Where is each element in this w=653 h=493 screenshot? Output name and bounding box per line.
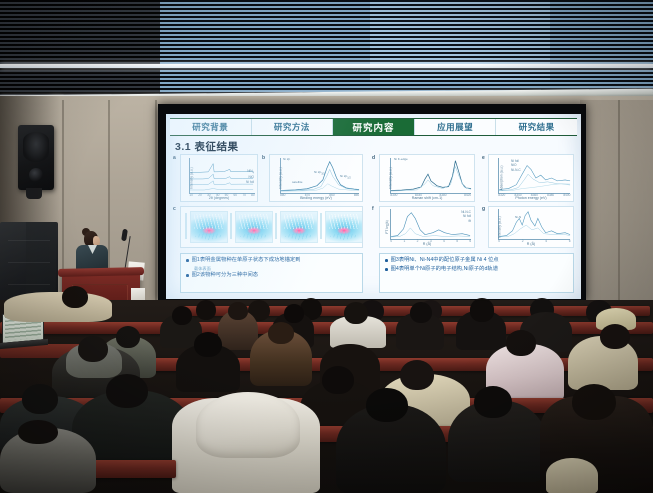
figure-panel-c (180, 206, 363, 248)
slide-tab-outlook[interactable]: 应用展望 (415, 119, 497, 135)
bullet-dot (385, 268, 388, 271)
panel-label-g: g (482, 206, 485, 212)
panel-b-title: Ni 2p (283, 157, 290, 161)
head (196, 300, 216, 320)
bullet-dot (186, 274, 189, 277)
surface-plot (280, 211, 318, 243)
panel-d-ylabel: Intensity (a.u.) (389, 167, 393, 188)
panel-label-c: c (173, 206, 176, 212)
head (470, 300, 494, 322)
panel-g-xlabel: R (Å) (489, 242, 573, 246)
slide-tab-methods[interactable]: 研究方法 (252, 119, 334, 135)
slide-nav-tabs: 研究背景 研究方法 研究内容 应用展望 研究结果 (170, 118, 577, 136)
wall-seam (618, 100, 620, 325)
bullet-text: 图3表明Ni、Ni-N4中的配位原子金属 Ni 4 位点 (391, 257, 499, 265)
head (268, 322, 294, 344)
bullet-text: 图4表明单个Ni原子的电子结构,Ni原子的d轨道 (391, 266, 498, 274)
head (366, 388, 408, 422)
slide-tab-content[interactable]: 研究内容 (333, 119, 415, 135)
panel-b-xlabel: Binding energy (eV) (270, 196, 362, 200)
bullet-box-right: 图3表明Ni、Ni-N4中的配位原子金属 Ni 4 位点 图4表明单个Ni原子的… (379, 253, 574, 293)
figure-panel-b: Ni 2p Ni 2p3/2 satellite Ni 2p1/2 880870… (269, 154, 363, 202)
bullet-box-left: 图1表明金属物种在单原子状态下成功地锚定到 载体表面 图2该物种可分为三种中间态 (180, 253, 363, 293)
person-fur-coat (4, 292, 112, 322)
figure-panel-g: Ni-N 02 46 R (Å) Intensity (a.u.) (488, 206, 574, 248)
person-cream-shoulder (546, 458, 598, 493)
panel-label-f: f (372, 206, 374, 212)
head (284, 304, 304, 323)
rack-seam (8, 262, 50, 263)
head (410, 302, 432, 323)
figure-panel-d: Ni K-edge 83008340 83808420 Raman shift … (379, 154, 475, 202)
head (506, 330, 536, 356)
surface-plot (235, 211, 273, 243)
panel-f-legend: Ni-N-C Ni foil fit (461, 210, 471, 223)
panel-label-e: e (482, 155, 485, 161)
panel-e-xlabel: Photon energy (eV) (489, 196, 573, 200)
panel-b-ylabel: Intensity (a.u.) (279, 167, 283, 188)
bullet-dot (186, 259, 189, 262)
figure-panel-f: Ni-N-C Ni foil fit 01 23 45 6 R (Å) FT k… (379, 206, 475, 248)
panel-g-ylabel: Intensity (a.u.) (498, 216, 502, 237)
surface-plot (190, 211, 228, 243)
figure-panel-e: Ni foil NiO Ni-N-C 83208340 83608380 840… (488, 154, 574, 202)
head (22, 384, 58, 414)
rack-seam (8, 240, 50, 241)
head (116, 326, 140, 348)
panel-d-title: Ni K-edge (394, 157, 408, 161)
slide-tab-background[interactable]: 研究背景 (170, 119, 252, 135)
colorbar (275, 213, 277, 239)
head (400, 360, 434, 390)
projection-screen[interactable]: 研究背景 研究方法 研究内容 应用展望 研究结果 3.1 表征结果 a 1020 (166, 114, 581, 299)
head (322, 366, 354, 394)
bullet-item: 图2该物种可分为三种中间态 (186, 272, 358, 280)
head (572, 384, 616, 420)
head (600, 324, 630, 349)
panel-d-xlabel: Raman shift (cm-1) (380, 196, 474, 200)
panel-f-xlabel: R (Å) (380, 242, 474, 246)
panel-a-legend: NiN4NiONi foil (246, 169, 254, 184)
rack-seam (8, 284, 50, 285)
head (106, 374, 148, 408)
head (78, 336, 108, 362)
panel-f-ylabel: FT k³χ(k) (385, 220, 389, 234)
wall-seam (155, 100, 157, 325)
panel-label-a: a (173, 155, 176, 161)
bullet-item: 图3表明Ni、Ni-N4中的配位原子金属 Ni 4 位点 (385, 257, 569, 265)
panel-a-ylabel: Intensity (a.u.) (190, 167, 194, 188)
head (228, 302, 248, 320)
figure-panel-a: 1020 3040 5060 7080 2θ (degrees) Intensi… (180, 154, 258, 202)
bullet-text: 图2该物种可分为三种中间态 (192, 272, 259, 280)
podium-paper-sheet (131, 288, 145, 300)
slide-title: 3.1 表征结果 (175, 139, 239, 154)
bullet-dot (385, 259, 388, 262)
wall-speaker-cabinet (18, 125, 54, 190)
panel-b-peak2-label: Ni 2p1/2 (340, 174, 351, 180)
lecture-hall-scene: 研究背景 研究方法 研究内容 应用展望 研究结果 3.1 表征结果 a 1020 (0, 0, 653, 493)
hood-white (196, 392, 300, 458)
colorbar (320, 213, 322, 239)
panel-b-peak-label: Ni 2p3/2 (314, 170, 325, 176)
audience-area (0, 300, 653, 493)
panel-e-legend: Ni foil NiO Ni-N-C (511, 159, 521, 172)
ceiling-louvers-shadow (0, 0, 160, 100)
panel-label-d: d (372, 155, 375, 161)
head (194, 332, 222, 357)
slide-tab-results[interactable]: 研究结果 (496, 119, 577, 135)
head (18, 420, 58, 444)
panel-label-b: b (262, 155, 265, 161)
surface-plot (325, 211, 362, 243)
ceiling-louvers-highlight (370, 0, 550, 80)
panel-b-sat-label: satellite (292, 180, 303, 184)
bullet-item: 图1表明金属物种在单原子状态下成功地锚定到 (186, 257, 358, 265)
bullet-item: 图4表明单个Ni原子的电子结构,Ni原子的d轨道 (385, 266, 569, 274)
head (172, 306, 192, 325)
panel-a-xlabel: 2θ (degrees) (181, 196, 257, 200)
bullet-text: 图1表明金属物种在单原子状态下成功地锚定到 (192, 257, 301, 265)
colorbar (230, 213, 232, 239)
panel-g-peak-label: Ni-N (515, 215, 521, 219)
speaker-mount-bracket (26, 188, 42, 199)
head (474, 386, 512, 418)
colorbar (185, 213, 187, 239)
head (62, 286, 88, 308)
head (344, 302, 368, 324)
panel-e-ylabel: Absorption (a.u.) (500, 165, 504, 190)
ceiling-light-strip (0, 64, 653, 68)
